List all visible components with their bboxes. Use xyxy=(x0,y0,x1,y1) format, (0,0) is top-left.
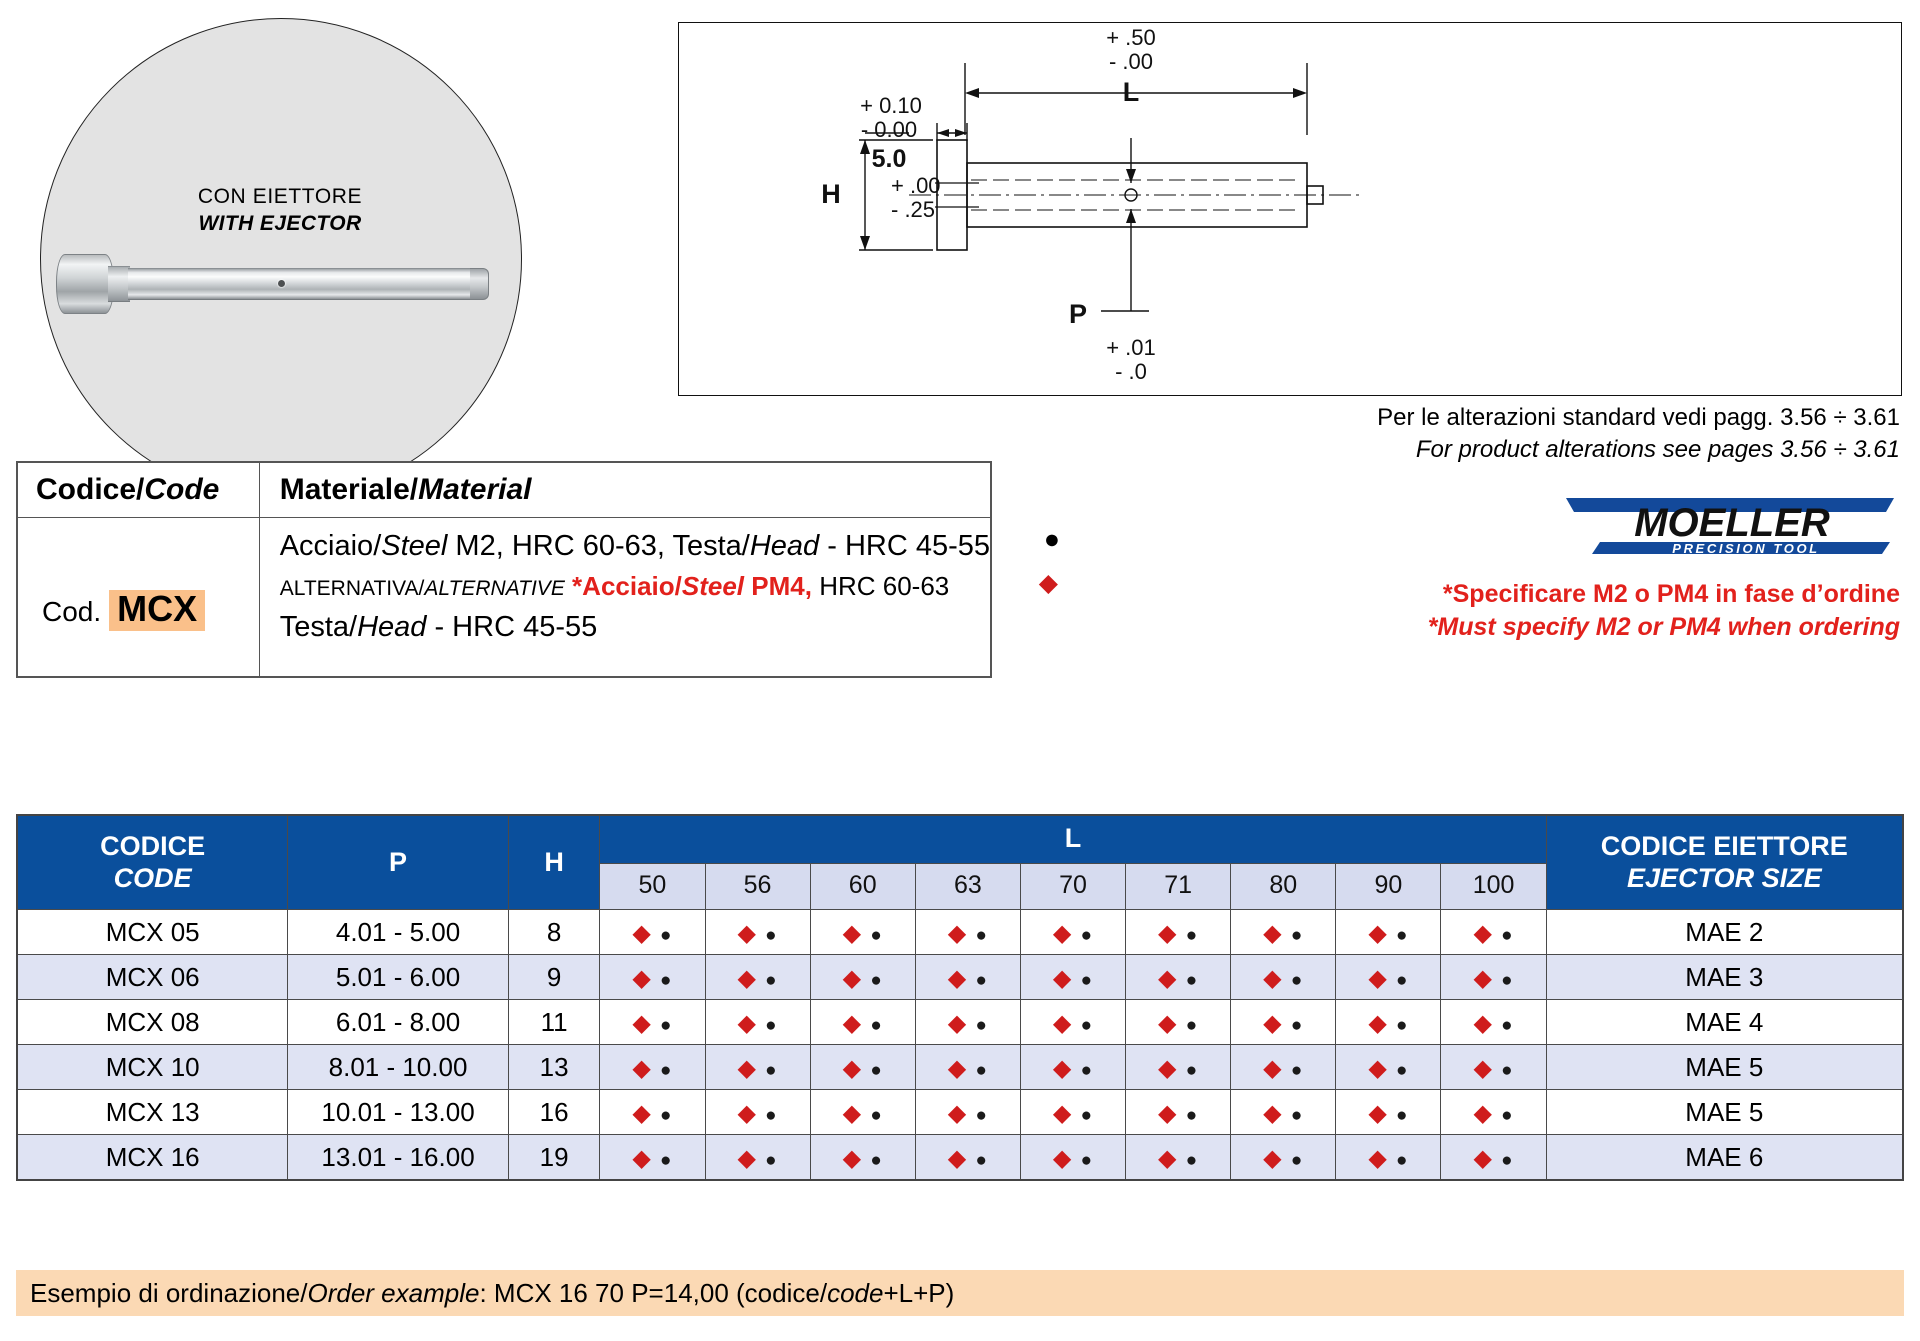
dim-L-tol-minus: - .00 xyxy=(1109,49,1153,74)
marker-m2-dot: ● xyxy=(975,1105,987,1126)
availability-markers: ◆ ● xyxy=(843,917,883,947)
availability-markers: ◆ ● xyxy=(1158,1007,1198,1037)
availability-markers: ◆ ● xyxy=(737,1007,777,1037)
availability-markers: ◆ ● xyxy=(948,962,988,992)
availability-markers: ◆ ● xyxy=(1368,917,1408,947)
marker-m2-dot: ● xyxy=(1081,1015,1093,1036)
availability-markers: ◆ ● xyxy=(1263,917,1303,947)
material-header-material-en: Material xyxy=(418,473,531,506)
availability-cell-63: ◆ ● xyxy=(915,1000,1020,1045)
marker-m2-dot: ● xyxy=(1396,1150,1408,1171)
col-header-l-100: 100 xyxy=(1441,864,1546,910)
order-example-label-en: Order example xyxy=(308,1278,480,1308)
pin-neck xyxy=(108,266,130,302)
availability-cell-100: ◆ ● xyxy=(1441,955,1546,1000)
table-row: MCX 1310.01 - 13.0016◆ ● ◆ ● ◆ ● ◆ ● ◆ ●… xyxy=(17,1090,1903,1135)
mat-l3-a: Testa/ xyxy=(280,611,357,643)
availability-cell-100: ◆ ● xyxy=(1441,1000,1546,1045)
marker-m2-dot: ● xyxy=(1501,1015,1513,1036)
marker-pm4-diamond: ◆ xyxy=(1158,920,1177,947)
col-header-l-90: 90 xyxy=(1336,864,1441,910)
marker-m2-dot: ● xyxy=(765,1015,777,1036)
marker-standard-dot: ● xyxy=(1044,524,1060,555)
availability-markers: ◆ ● xyxy=(1053,962,1093,992)
marker-m2-dot: ● xyxy=(1501,970,1513,991)
alterations-note-en: For product alterations see pages 3.56 ÷… xyxy=(960,436,1900,464)
mat-l2-c: *Acciaio/ xyxy=(565,571,682,601)
availability-markers: ◆ ● xyxy=(1158,1142,1198,1172)
order-example-label-it: Esempio di ordinazione/ xyxy=(30,1278,308,1308)
marker-pm4-diamond: ◆ xyxy=(737,920,756,947)
mat-l1-d: Head xyxy=(750,530,819,562)
size-matrix-head: CODICE CODE P H L CODICE EIETTORE EJECTO… xyxy=(17,815,1903,910)
marker-m2-dot: ● xyxy=(660,1060,672,1081)
availability-markers: ◆ ● xyxy=(843,1142,883,1172)
marker-m2-dot: ● xyxy=(1186,1150,1198,1171)
row-p: 5.01 - 6.00 xyxy=(288,955,508,1000)
marker-pm4-diamond: ◆ xyxy=(843,1010,862,1037)
marker-m2-dot: ● xyxy=(660,925,672,946)
marker-pm4-diamond: ◆ xyxy=(1263,1145,1282,1172)
marker-pm4-diamond: ◆ xyxy=(1473,965,1492,992)
marker-pm4-diamond: ◆ xyxy=(843,1145,862,1172)
order-example-value-tail: +L+P) xyxy=(883,1278,954,1308)
availability-cell-70: ◆ ● xyxy=(1020,1135,1125,1181)
availability-markers: ◆ ● xyxy=(948,1097,988,1127)
marker-pm4-diamond: ◆ xyxy=(737,965,756,992)
row-code: MCX 05 xyxy=(17,910,288,955)
availability-cell-90: ◆ ● xyxy=(1336,1135,1441,1181)
availability-cell-71: ◆ ● xyxy=(1126,1135,1231,1181)
marker-m2-dot: ● xyxy=(1186,1060,1198,1081)
availability-markers: ◆ ● xyxy=(1368,1007,1408,1037)
material-line-standard: Acciaio/Steel M2, HRC 60-63, Testa/Head … xyxy=(280,530,990,563)
size-matrix-table: CODICE CODE P H L CODICE EIETTORE EJECTO… xyxy=(16,814,1904,1181)
marker-m2-dot: ● xyxy=(765,1105,777,1126)
marker-m2-dot: ● xyxy=(870,970,882,991)
marker-m2-dot: ● xyxy=(1081,925,1093,946)
row-p: 6.01 - 8.00 xyxy=(288,1000,508,1045)
marker-pm4-diamond: ◆ xyxy=(1368,920,1387,947)
material-line-alternative: ALTERNATIVA/ALTERNATIVE *Acciaio/Steel P… xyxy=(280,571,990,602)
moeller-logo-name: MOELLER xyxy=(1634,501,1830,545)
availability-cell-71: ◆ ● xyxy=(1126,1090,1231,1135)
row-ejector: MAE 2 xyxy=(1546,910,1903,955)
table-row: MCX 108.01 - 10.0013◆ ● ◆ ● ◆ ● ◆ ● ◆ ● … xyxy=(17,1045,1903,1090)
table-row: MCX 086.01 - 8.0011◆ ● ◆ ● ◆ ● ◆ ● ◆ ● ◆… xyxy=(17,1000,1903,1045)
availability-cell-90: ◆ ● xyxy=(1336,1000,1441,1045)
mat-l1-b: Steel xyxy=(381,530,447,562)
row-h: 8 xyxy=(508,910,600,955)
availability-cell-100: ◆ ● xyxy=(1441,1090,1546,1135)
marker-m2-dot: ● xyxy=(1396,970,1408,991)
marker-m2-dot: ● xyxy=(870,1105,882,1126)
marker-pm4-diamond: ◆ xyxy=(1368,965,1387,992)
availability-cell-80: ◆ ● xyxy=(1231,1135,1336,1181)
availability-markers: ◆ ● xyxy=(737,1097,777,1127)
photo-caption-en: WITH EJECTOR xyxy=(40,212,520,236)
availability-markers: ◆ ● xyxy=(1263,1007,1303,1037)
marker-m2-dot: ● xyxy=(1291,970,1303,991)
marker-pm4-diamond: ◆ xyxy=(948,1010,967,1037)
availability-cell-50: ◆ ● xyxy=(600,1000,705,1045)
marker-pm4-diamond: ◆ xyxy=(632,1055,651,1082)
marker-pm4-diamond: ◆ xyxy=(1473,1100,1492,1127)
marker-m2-dot: ● xyxy=(765,925,777,946)
availability-cell-56: ◆ ● xyxy=(705,955,810,1000)
availability-markers: ◆ ● xyxy=(948,917,988,947)
alterations-note-it: Per le alterazioni standard vedi pagg. 3… xyxy=(960,404,1900,432)
pin-shaft xyxy=(128,268,472,300)
availability-markers: ◆ ● xyxy=(1053,1007,1093,1037)
availability-markers: ◆ ● xyxy=(1368,962,1408,992)
dim-head-value: 5.0 xyxy=(872,145,907,173)
dim-L-tol-plus: + .50 xyxy=(1106,25,1156,50)
row-code: MCX 08 xyxy=(17,1000,288,1045)
marker-m2-dot: ● xyxy=(975,1060,987,1081)
row-code: MCX 13 xyxy=(17,1090,288,1135)
marker-pm4-diamond: ◆ xyxy=(843,920,862,947)
availability-cell-90: ◆ ● xyxy=(1336,1045,1441,1090)
marker-m2-dot: ● xyxy=(1291,1105,1303,1126)
spec-note-en: *Must specify M2 or PM4 when ordering xyxy=(1000,613,1900,642)
availability-cell-63: ◆ ● xyxy=(915,1135,1020,1181)
marker-m2-dot: ● xyxy=(765,1060,777,1081)
marker-pm4-diamond: ◆ xyxy=(843,1100,862,1127)
marker-pm4-diamond: ◆ xyxy=(1053,920,1072,947)
marker-m2-dot: ● xyxy=(660,970,672,991)
marker-pm4-diamond: ◆ xyxy=(1053,965,1072,992)
marker-m2-dot: ● xyxy=(1291,1150,1303,1171)
col-header-l-70: 70 xyxy=(1020,864,1125,910)
marker-m2-dot: ● xyxy=(1081,1150,1093,1171)
marker-pm4-diamond: ◆ xyxy=(1158,1145,1177,1172)
availability-markers: ◆ ● xyxy=(737,917,777,947)
marker-m2-dot: ● xyxy=(975,925,987,946)
marker-pm4-diamond: ◆ xyxy=(1473,1055,1492,1082)
row-ejector: MAE 5 xyxy=(1546,1045,1903,1090)
marker-pm4-diamond: ◆ xyxy=(1263,1010,1282,1037)
availability-markers: ◆ ● xyxy=(1368,1142,1408,1172)
col-header-l-71: 71 xyxy=(1126,864,1231,910)
marker-pm4-diamond: ◆ xyxy=(843,1055,862,1082)
dim-head-tol-minus: - 0.00 xyxy=(861,117,917,142)
moeller-logo-svg: MOELLER PRECISION TOOL xyxy=(1560,490,1900,556)
availability-markers: ◆ ● xyxy=(632,1142,672,1172)
row-ejector: MAE 6 xyxy=(1546,1135,1903,1181)
col-header-l-group: L xyxy=(600,815,1546,864)
marker-m2-dot: ● xyxy=(1186,925,1198,946)
marker-pm4-diamond: ◆ xyxy=(1263,1100,1282,1127)
marker-pm4-diamond: ◆ xyxy=(632,965,651,992)
marker-pm4-diamond: ◆ xyxy=(1368,1055,1387,1082)
row-code: MCX 10 xyxy=(17,1045,288,1090)
col-header-l-56: 56 xyxy=(705,864,810,910)
availability-cell-56: ◆ ● xyxy=(705,1045,810,1090)
row-h: 9 xyxy=(508,955,600,1000)
marker-m2-dot: ● xyxy=(1501,1105,1513,1126)
availability-cell-90: ◆ ● xyxy=(1336,955,1441,1000)
availability-cell-90: ◆ ● xyxy=(1336,910,1441,955)
row-p: 8.01 - 10.00 xyxy=(288,1045,508,1090)
marker-pm4-diamond: ◆ xyxy=(1473,920,1492,947)
col-header-code-it: CODICE xyxy=(18,831,287,862)
material-header-code-en: Code xyxy=(144,473,219,506)
marker-pm4-diamond: ◆ xyxy=(737,1100,756,1127)
marker-m2-dot: ● xyxy=(1396,1105,1408,1126)
availability-cell-70: ◆ ● xyxy=(1020,1045,1125,1090)
order-example-value: : MCX 16 70 P=14,00 (codice/ xyxy=(479,1278,827,1308)
availability-cell-80: ◆ ● xyxy=(1231,1000,1336,1045)
marker-pm4-diamond: ◆ xyxy=(737,1145,756,1172)
dim-P-tol-plus: + .01 xyxy=(1106,335,1156,360)
availability-cell-90: ◆ ● xyxy=(1336,1090,1441,1135)
technical-drawing-panel: L + .50 - .00 + 0.10 - 0.00 5.0 H + .00 … xyxy=(678,22,1902,396)
marker-m2-dot: ● xyxy=(1081,1105,1093,1126)
marker-m2-dot: ● xyxy=(975,1150,987,1171)
marker-pm4-diamond: ◆ xyxy=(1053,1145,1072,1172)
col-header-p: P xyxy=(288,815,508,910)
availability-markers: ◆ ● xyxy=(1263,1052,1303,1082)
availability-cell-71: ◆ ● xyxy=(1126,910,1231,955)
availability-markers: ◆ ● xyxy=(1473,962,1513,992)
availability-markers: ◆ ● xyxy=(843,962,883,992)
availability-cell-50: ◆ ● xyxy=(600,910,705,955)
col-header-ejector: CODICE EIETTORE EJECTOR SIZE xyxy=(1546,815,1903,910)
marker-pm4-diamond: ◆ xyxy=(1053,1100,1072,1127)
material-table-header-row: Codice/Code Materiale/Material xyxy=(17,462,991,518)
marker-pm4-diamond: ◆ xyxy=(1158,965,1177,992)
availability-cell-71: ◆ ● xyxy=(1126,1045,1231,1090)
availability-cell-71: ◆ ● xyxy=(1126,1000,1231,1045)
marker-pm4-diamond: ◆ xyxy=(1053,1055,1072,1082)
material-table-body-row: Cod.MCX Acciaio/Steel M2, HRC 60-63, Tes… xyxy=(17,518,991,678)
photo-caption-it: CON EIETTORE xyxy=(40,185,520,209)
col-header-h: H xyxy=(508,815,600,910)
col-header-l-50: 50 xyxy=(600,864,705,910)
marker-m2-dot: ● xyxy=(1501,1060,1513,1081)
marker-pm4-diamond: ◆ xyxy=(843,965,862,992)
availability-cell-60: ◆ ● xyxy=(810,910,915,955)
mat-l2-a: ALTERNATIVA/ xyxy=(280,577,425,600)
marker-m2-dot: ● xyxy=(1186,1105,1198,1126)
dim-L-label: L xyxy=(1123,77,1140,107)
spec-note-it: *Specificare M2 o PM4 in fase d’ordine xyxy=(1000,580,1900,609)
availability-cell-100: ◆ ● xyxy=(1441,1045,1546,1090)
availability-markers: ◆ ● xyxy=(1368,1052,1408,1082)
moeller-logo-tagline: PRECISION TOOL xyxy=(1672,541,1819,556)
availability-cell-80: ◆ ● xyxy=(1231,910,1336,955)
availability-markers: ◆ ● xyxy=(1263,962,1303,992)
marker-m2-dot: ● xyxy=(1396,925,1408,946)
marker-pm4-diamond: ◆ xyxy=(1368,1145,1387,1172)
mat-l3-b: Head xyxy=(357,611,426,643)
row-p: 13.01 - 16.00 xyxy=(288,1135,508,1181)
marker-pm4-diamond: ◆ xyxy=(1158,1055,1177,1082)
marker-m2-dot: ● xyxy=(975,970,987,991)
marker-pm4-diamond: ◆ xyxy=(948,1145,967,1172)
availability-markers: ◆ ● xyxy=(737,1142,777,1172)
marker-m2-dot: ● xyxy=(660,1150,672,1171)
availability-cell-63: ◆ ● xyxy=(915,910,1020,955)
col-header-ejector-it: CODICE EIETTORE xyxy=(1553,831,1896,862)
row-p: 10.01 - 13.00 xyxy=(288,1090,508,1135)
availability-markers: ◆ ● xyxy=(632,1007,672,1037)
marker-m2-dot: ● xyxy=(1186,970,1198,991)
row-h: 11 xyxy=(508,1000,600,1045)
availability-markers: ◆ ● xyxy=(843,1007,883,1037)
row-p: 4.01 - 5.00 xyxy=(288,910,508,955)
availability-cell-60: ◆ ● xyxy=(810,1000,915,1045)
availability-markers: ◆ ● xyxy=(1158,1097,1198,1127)
row-ejector: MAE 5 xyxy=(1546,1090,1903,1135)
dim-H-tol-minus: - .25 xyxy=(891,197,935,222)
marker-pm4-diamond: ◆ xyxy=(948,1055,967,1082)
col-header-l-63: 63 xyxy=(915,864,1020,910)
availability-cell-100: ◆ ● xyxy=(1441,1135,1546,1181)
marker-pm4-diamond: ◆ xyxy=(632,1010,651,1037)
mat-l2-f: HRC 60-63 xyxy=(812,571,949,601)
availability-markers: ◆ ● xyxy=(1053,1097,1093,1127)
marker-pm4-diamond: ◆ xyxy=(1263,1055,1282,1082)
availability-cell-70: ◆ ● xyxy=(1020,955,1125,1000)
availability-cell-56: ◆ ● xyxy=(705,910,810,955)
availability-cell-63: ◆ ● xyxy=(915,955,1020,1000)
spec-note: *Specificare M2 o PM4 in fase d’ordine *… xyxy=(1000,580,1900,642)
material-table: Codice/Code Materiale/Material Cod.MCX A… xyxy=(16,461,992,678)
dim-head-tol-plus: + 0.10 xyxy=(860,93,922,118)
availability-cell-60: ◆ ● xyxy=(810,955,915,1000)
marker-pm4-diamond: ◆ xyxy=(1158,1010,1177,1037)
col-header-code-en: CODE xyxy=(18,863,287,894)
mat-l2-e: PM4, xyxy=(744,571,812,601)
mat-l1-a: Acciaio/ xyxy=(280,530,382,562)
availability-cell-100: ◆ ● xyxy=(1441,910,1546,955)
marker-m2-dot: ● xyxy=(870,925,882,946)
table-row: MCX 1613.01 - 16.0019◆ ● ◆ ● ◆ ● ◆ ● ◆ ●… xyxy=(17,1135,1903,1181)
availability-cell-56: ◆ ● xyxy=(705,1090,810,1135)
marker-alternative-diamond: ◆ xyxy=(1039,568,1058,598)
availability-cell-50: ◆ ● xyxy=(600,1135,705,1181)
availability-cell-56: ◆ ● xyxy=(705,1000,810,1045)
availability-markers: ◆ ● xyxy=(632,917,672,947)
availability-cell-56: ◆ ● xyxy=(705,1135,810,1181)
availability-markers: ◆ ● xyxy=(737,962,777,992)
availability-cell-60: ◆ ● xyxy=(810,1045,915,1090)
marker-m2-dot: ● xyxy=(870,1060,882,1081)
row-ejector: MAE 3 xyxy=(1546,955,1903,1000)
pin-tip xyxy=(470,268,489,300)
marker-pm4-diamond: ◆ xyxy=(737,1010,756,1037)
row-code: MCX 06 xyxy=(17,955,288,1000)
availability-markers: ◆ ● xyxy=(843,1052,883,1082)
marker-m2-dot: ● xyxy=(975,1015,987,1036)
mat-l2-d: Steel xyxy=(682,571,744,601)
availability-markers: ◆ ● xyxy=(843,1097,883,1127)
marker-pm4-diamond: ◆ xyxy=(632,1145,651,1172)
col-header-l-60: 60 xyxy=(810,864,915,910)
material-header-material-cell: Materiale/Material xyxy=(259,462,991,518)
alterations-note: Per le alterazioni standard vedi pagg. 3… xyxy=(960,404,1900,464)
availability-cell-50: ◆ ● xyxy=(600,1090,705,1135)
marker-pm4-diamond: ◆ xyxy=(632,1100,651,1127)
marker-m2-dot: ● xyxy=(660,1015,672,1036)
availability-cell-70: ◆ ● xyxy=(1020,1090,1125,1135)
marker-pm4-diamond: ◆ xyxy=(1473,1145,1492,1172)
dim-P-tol-minus: - .0 xyxy=(1115,359,1147,384)
marker-pm4-diamond: ◆ xyxy=(1263,965,1282,992)
col-header-l-80: 80 xyxy=(1231,864,1336,910)
availability-markers: ◆ ● xyxy=(632,1097,672,1127)
marker-pm4-diamond: ◆ xyxy=(1263,920,1282,947)
availability-markers: ◆ ● xyxy=(632,1052,672,1082)
col-header-ejector-en: EJECTOR SIZE xyxy=(1553,863,1896,894)
dim-H-tol-plus: + .00 xyxy=(891,173,941,198)
mat-l2-b: ALTERNATIVE xyxy=(424,577,564,600)
availability-cell-63: ◆ ● xyxy=(915,1090,1020,1135)
marker-pm4-diamond: ◆ xyxy=(948,920,967,947)
availability-markers: ◆ ● xyxy=(1368,1097,1408,1127)
mat-l3-c: - HRC 45-55 xyxy=(426,611,597,643)
availability-markers: ◆ ● xyxy=(1473,917,1513,947)
availability-cell-60: ◆ ● xyxy=(810,1135,915,1181)
availability-cell-63: ◆ ● xyxy=(915,1045,1020,1090)
availability-markers: ◆ ● xyxy=(1158,917,1198,947)
table-row: MCX 065.01 - 6.009◆ ● ◆ ● ◆ ● ◆ ● ◆ ● ◆ … xyxy=(17,955,1903,1000)
availability-markers: ◆ ● xyxy=(1473,1097,1513,1127)
marker-m2-dot: ● xyxy=(1501,1150,1513,1171)
availability-cell-80: ◆ ● xyxy=(1231,1045,1336,1090)
availability-markers: ◆ ● xyxy=(737,1052,777,1082)
availability-markers: ◆ ● xyxy=(1053,1052,1093,1082)
availability-markers: ◆ ● xyxy=(1473,1052,1513,1082)
row-h: 19 xyxy=(508,1135,600,1181)
marker-pm4-diamond: ◆ xyxy=(737,1055,756,1082)
marker-m2-dot: ● xyxy=(1291,925,1303,946)
availability-markers: ◆ ● xyxy=(632,962,672,992)
availability-cell-50: ◆ ● xyxy=(600,1045,705,1090)
marker-pm4-diamond: ◆ xyxy=(1368,1010,1387,1037)
row-ejector: MAE 4 xyxy=(1546,1000,1903,1045)
marker-m2-dot: ● xyxy=(1186,1015,1198,1036)
marker-m2-dot: ● xyxy=(765,1150,777,1171)
marker-m2-dot: ● xyxy=(1396,1015,1408,1036)
marker-pm4-diamond: ◆ xyxy=(948,965,967,992)
table-row: MCX 054.01 - 5.008◆ ● ◆ ● ◆ ● ◆ ● ◆ ● ◆ … xyxy=(17,910,1903,955)
size-matrix-body: MCX 054.01 - 5.008◆ ● ◆ ● ◆ ● ◆ ● ◆ ● ◆ … xyxy=(17,910,1903,1181)
marker-pm4-diamond: ◆ xyxy=(1368,1100,1387,1127)
availability-markers: ◆ ● xyxy=(948,1142,988,1172)
availability-markers: ◆ ● xyxy=(1263,1097,1303,1127)
marker-pm4-diamond: ◆ xyxy=(1053,1010,1072,1037)
material-header-material-it: Materiale/ xyxy=(280,473,418,506)
marker-pm4-diamond: ◆ xyxy=(1473,1010,1492,1037)
marker-m2-dot: ● xyxy=(660,1105,672,1126)
technical-drawing-svg: L + .50 - .00 + 0.10 - 0.00 5.0 H + .00 … xyxy=(679,23,1901,395)
material-header-code-it: Codice/ xyxy=(36,473,144,506)
availability-markers: ◆ ● xyxy=(1158,1052,1198,1082)
availability-markers: ◆ ● xyxy=(1053,917,1093,947)
marker-m2-dot: ● xyxy=(870,1150,882,1171)
marker-m2-dot: ● xyxy=(870,1015,882,1036)
availability-markers: ◆ ● xyxy=(948,1007,988,1037)
row-h: 13 xyxy=(508,1045,600,1090)
availability-cell-80: ◆ ● xyxy=(1231,1090,1336,1135)
order-example-banner: Esempio di ordinazione/Order example: MC… xyxy=(16,1270,1904,1316)
order-example-text: Esempio di ordinazione/Order example: MC… xyxy=(16,1278,954,1309)
row-h: 16 xyxy=(508,1090,600,1135)
mat-l1-c: M2, HRC 60-63, Testa/ xyxy=(447,530,749,562)
